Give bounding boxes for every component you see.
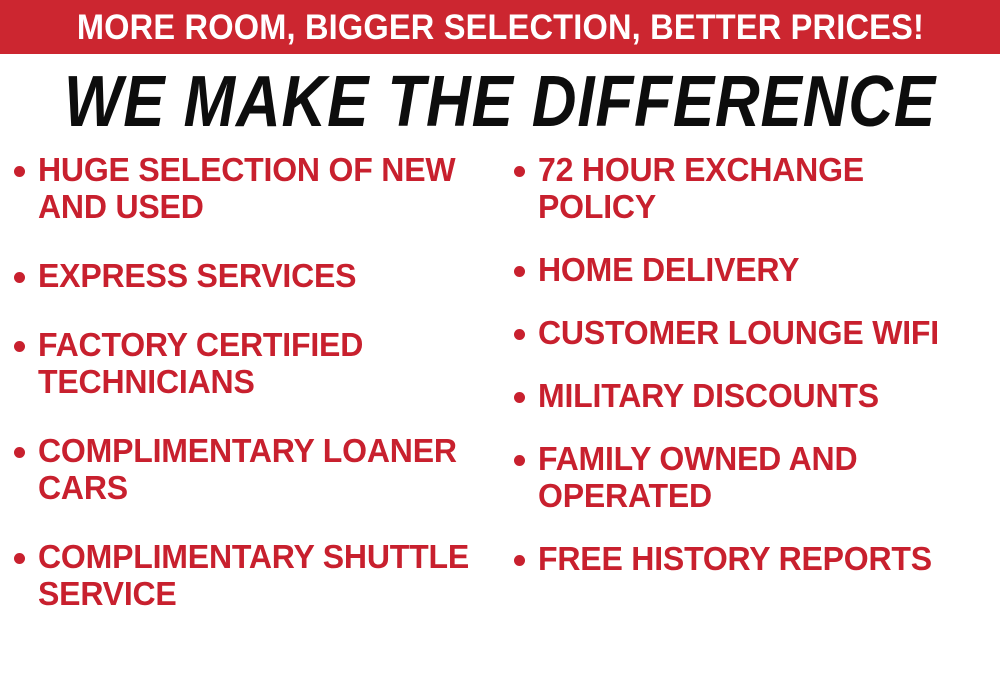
list-item: HUGE SELECTION OF NEW AND USED (14, 152, 494, 226)
bullet-dot-icon (14, 553, 25, 564)
list-item: COMPLIMENTARY LOANER CARS (14, 433, 494, 507)
bullet-dot-icon (514, 266, 525, 277)
bullet-dot-icon (14, 166, 25, 177)
page-title: WE MAKE THE DIFFERENCE (64, 66, 936, 138)
list-item: FREE HISTORY REPORTS (514, 541, 998, 578)
list-item: FAMILY OWNED AND OPERATED (514, 441, 998, 515)
feature-label: HUGE SELECTION OF NEW AND USED (38, 152, 480, 226)
bullet-dot-icon (14, 341, 25, 352)
features-columns: HUGE SELECTION OF NEW AND USED EXPRESS S… (0, 152, 1000, 694)
bullet-dot-icon (514, 392, 525, 403)
feature-label: FREE HISTORY REPORTS (538, 541, 932, 578)
bullet-dot-icon (514, 329, 525, 340)
features-column-right: 72 HOUR EXCHANGE POLICY HOME DELIVERY CU… (500, 152, 1000, 604)
header-banner-bar: MORE ROOM, BIGGER SELECTION, BETTER PRIC… (0, 0, 1000, 54)
list-item: HOME DELIVERY (514, 252, 998, 289)
header-tagline: MORE ROOM, BIGGER SELECTION, BETTER PRIC… (76, 10, 923, 45)
feature-label: MILITARY DISCOUNTS (538, 378, 879, 415)
feature-label: FAMILY OWNED AND OPERATED (538, 441, 984, 515)
feature-label: HOME DELIVERY (538, 252, 799, 289)
headline-container: WE MAKE THE DIFFERENCE (0, 64, 1000, 140)
feature-label: 72 HOUR EXCHANGE POLICY (538, 152, 984, 226)
feature-label: FACTORY CERTIFIED TECHNICIANS (38, 327, 480, 401)
promotional-banner: MORE ROOM, BIGGER SELECTION, BETTER PRIC… (0, 0, 1000, 694)
feature-label: EXPRESS SERVICES (38, 258, 356, 295)
bullet-dot-icon (14, 447, 25, 458)
bullet-dot-icon (514, 555, 525, 566)
list-item: FACTORY CERTIFIED TECHNICIANS (14, 327, 494, 401)
features-column-left: HUGE SELECTION OF NEW AND USED EXPRESS S… (0, 152, 500, 645)
feature-label: COMPLIMENTARY LOANER CARS (38, 433, 480, 507)
list-item: COMPLIMENTARY SHUTTLE SERVICE (14, 539, 494, 613)
bullet-dot-icon (514, 455, 525, 466)
feature-label: CUSTOMER LOUNGE WIFI (538, 315, 939, 352)
list-item: MILITARY DISCOUNTS (514, 378, 998, 415)
feature-label: COMPLIMENTARY SHUTTLE SERVICE (38, 539, 480, 613)
list-item: CUSTOMER LOUNGE WIFI (514, 315, 998, 352)
bullet-dot-icon (14, 272, 25, 283)
bullet-dot-icon (514, 166, 525, 177)
list-item: EXPRESS SERVICES (14, 258, 494, 295)
list-item: 72 HOUR EXCHANGE POLICY (514, 152, 998, 226)
